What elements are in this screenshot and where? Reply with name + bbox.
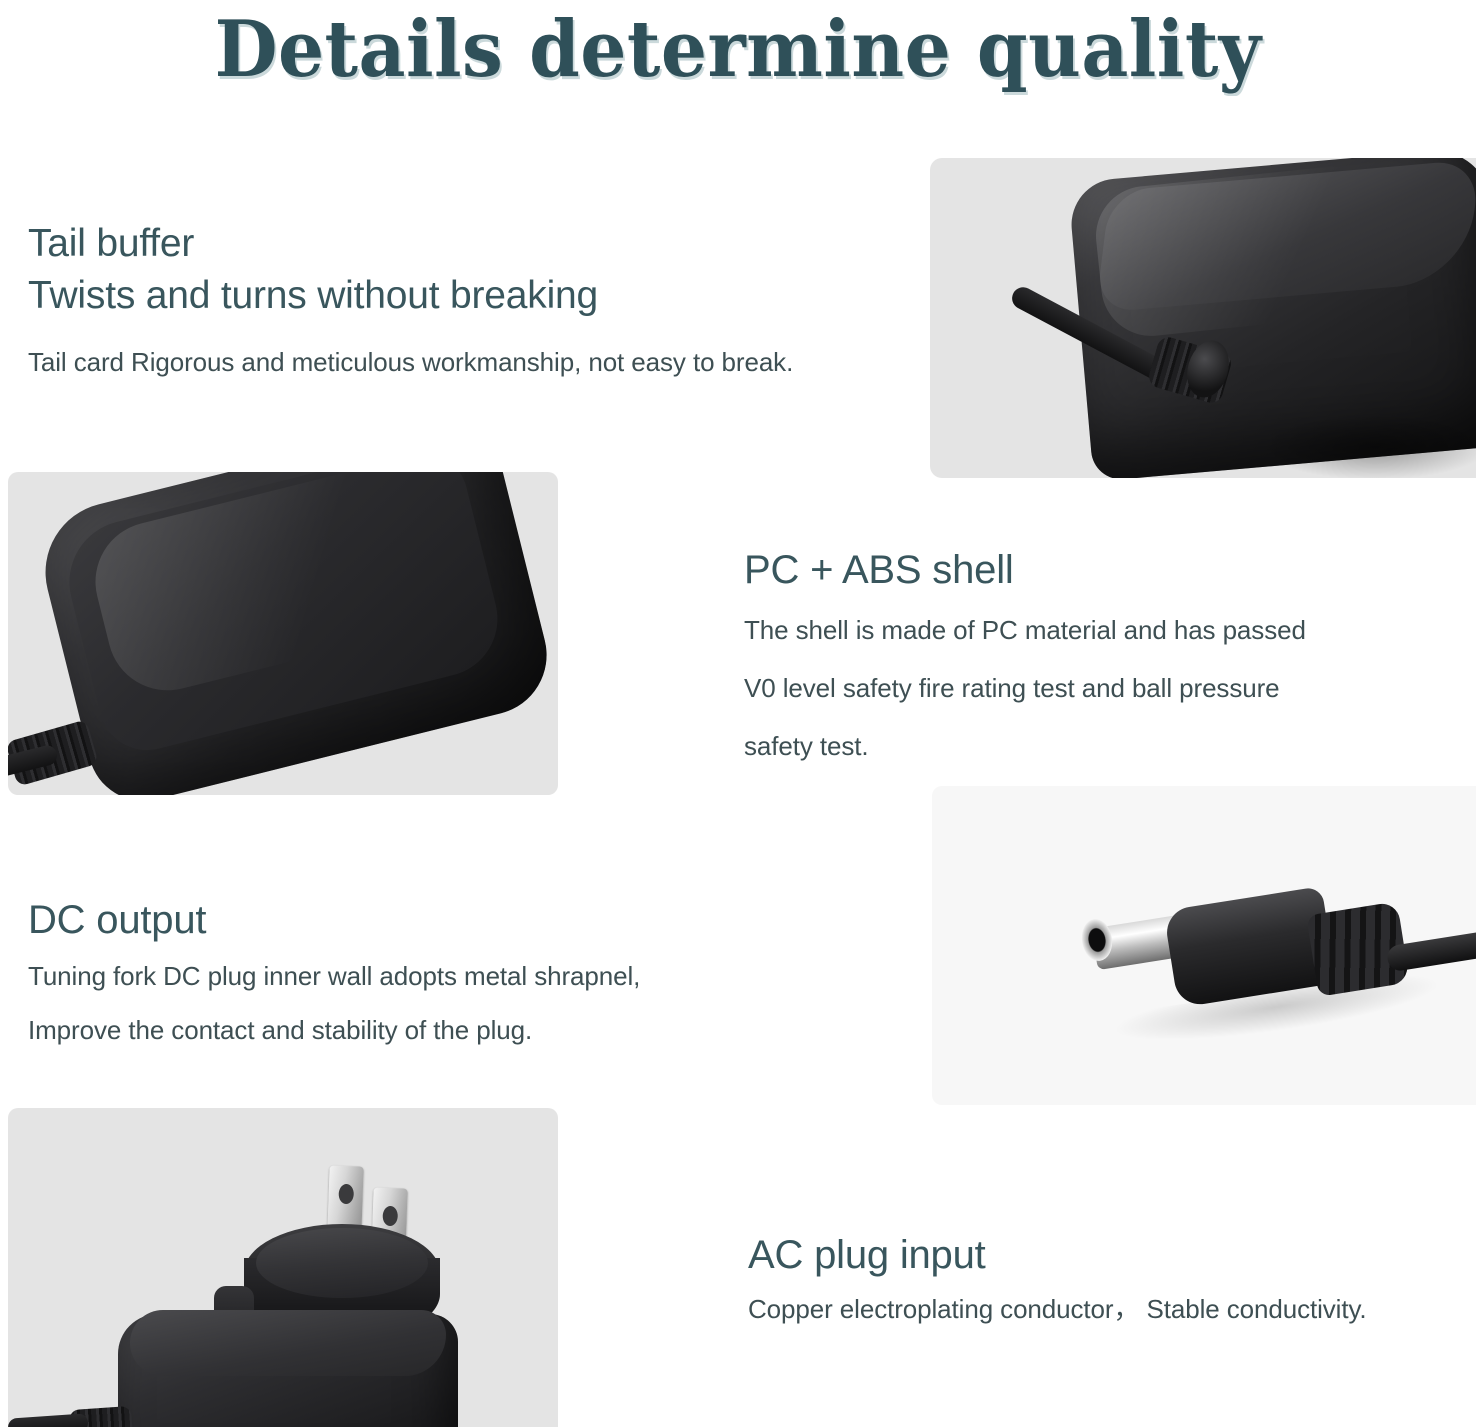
adapter-drop-shadow [1260,414,1476,478]
page-title: Details determine quality [52,4,1425,96]
dc-cable-shape [8,1413,89,1427]
section-heading-dc-output: DC output [28,893,788,947]
section-body-tail-buffer-line1: Tail card Rigorous and meticulous workma… [28,344,928,380]
section-body-dc-output-line2: Improve the contact and stability of the… [28,1005,788,1055]
image-dc-output-plug [932,786,1476,1105]
section-body-ac-plug-input-line1: Copper electroplating conductor， Stable … [748,1286,1468,1332]
section-body-pc-abs-shell-line1: The shell is made of PC material and has… [744,605,1434,655]
section-heading-tail-buffer-line1: Tail buffer [28,218,928,270]
section-pc-abs-shell: PC + ABS shell The shell is made of PC m… [744,543,1434,771]
image-ac-plug-input [8,1108,558,1427]
image-tail-buffer [930,158,1476,478]
section-ac-plug-input: AC plug input Copper electroplating cond… [748,1228,1468,1332]
ac-prong-hole [338,1184,354,1205]
section-body-pc-abs-shell-line2: V0 level safety fire rating test and bal… [744,663,1434,713]
image-pc-abs-shell [8,472,558,795]
section-tail-buffer: Tail buffer Twists and turns without bre… [28,218,928,380]
section-heading-pc-abs-shell: PC + ABS shell [744,543,1434,597]
section-body-pc-abs-shell-line3: safety test. [744,721,1434,771]
ac-plug-base-top-face-shape [256,1228,428,1298]
ac-prong-hole [382,1206,398,1227]
section-dc-output: DC output Tuning fork DC plug inner wall… [28,893,788,1055]
section-heading-ac-plug-input: AC plug input [748,1228,1468,1282]
section-body-dc-output-line1: Tuning fork DC plug inner wall adopts me… [28,951,788,1001]
adapter-top-face-shape [130,1310,446,1376]
section-heading-tail-buffer-line2: Twists and turns without breaking [28,270,928,322]
